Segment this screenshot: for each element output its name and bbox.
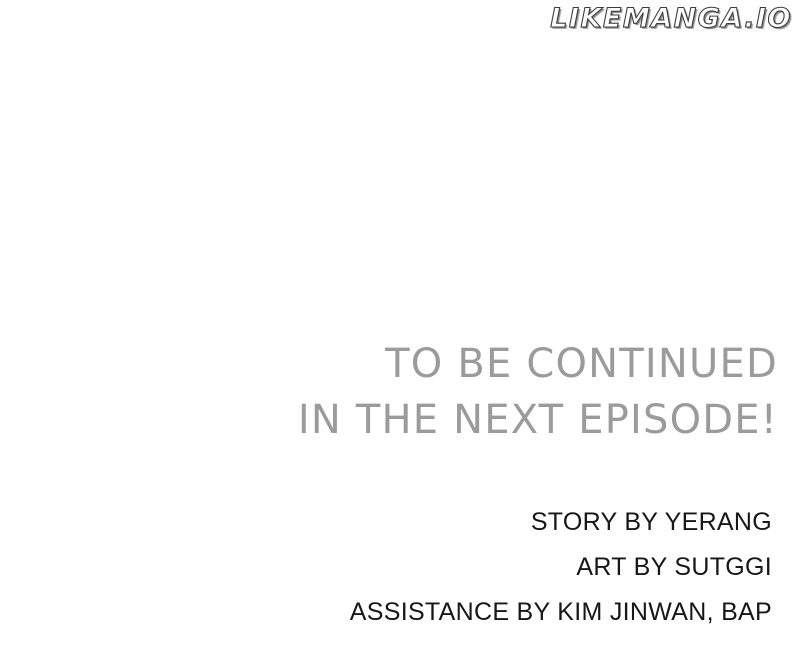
- credits-block: STORY BY YERANG ART BY SUTGGI ASSISTANCE…: [0, 500, 772, 635]
- to-be-continued-block: TO BE CONTINUED IN THE NEXT EPISODE!: [0, 336, 778, 448]
- to-be-continued-line-2: IN THE NEXT EPISODE!: [0, 392, 778, 448]
- likemanga-watermark: LIKEMANGA.IO: [550, 2, 792, 36]
- credit-story: STORY BY YERANG: [0, 500, 772, 545]
- credit-art: ART BY SUTGGI: [0, 545, 772, 590]
- to-be-continued-line-1: TO BE CONTINUED: [0, 336, 778, 392]
- credit-assistance: ASSISTANCE BY KIM JINWAN, BAP: [0, 590, 772, 635]
- comic-end-page: LIKEMANGA.IO TO BE CONTINUED IN THE NEXT…: [0, 0, 800, 651]
